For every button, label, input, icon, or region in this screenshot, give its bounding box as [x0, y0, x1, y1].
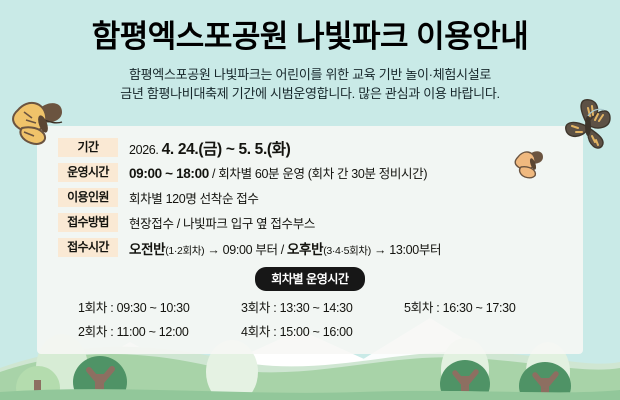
afternoon-group-sessions: (3·4·5회차)	[323, 245, 371, 257]
morning-group-sessions: (1·2회차)	[165, 245, 204, 257]
info-row-list: 기간 2026. 4. 24.(금) ~ 5. 5.(화) 운영시간 09:00…	[58, 135, 568, 260]
application-time-mid: → 09:00 부터 /	[204, 243, 287, 257]
period-prefix: 2026.	[129, 143, 162, 157]
page-title: 함평엑스포공원 나빛파크 이용안내	[0, 0, 620, 56]
info-row-period: 기간 2026. 4. 24.(금) ~ 5. 5.(화)	[58, 135, 568, 160]
info-row-application-time: 접수시간 오전반(1·2회차) → 09:00 부터 / 오후반(3·4·5회차…	[58, 235, 568, 260]
session-item: 5회차 : 16:30 ~ 17:30	[404, 297, 548, 316]
butterfly-icon	[512, 148, 548, 180]
butterfly-icon	[6, 98, 68, 150]
afternoon-group-label: 오후반	[287, 242, 323, 257]
info-card: 기간 2026. 4. 24.(금) ~ 5. 5.(화) 운영시간 09:00…	[37, 126, 583, 354]
butterfly-icon	[558, 96, 616, 156]
row-value-hours: 09:00 ~ 18:00 / 회차별 60분 운영 (회차 간 30분 정비시…	[118, 163, 427, 182]
session-schedule-pill-label: 회차별 운영시간	[255, 267, 364, 291]
row-label-capacity: 이용인원	[58, 188, 118, 207]
session-item: 1회차 : 09:30 ~ 10:30	[78, 297, 241, 316]
poster-subtitle: 함평엑스포공원 나빛파크는 어린이를 위한 교육 기반 놀이·체험시설로 금년 …	[0, 56, 620, 103]
row-value-period: 2026. 4. 24.(금) ~ 5. 5.(화)	[118, 137, 290, 159]
row-value-application-time: 오전반(1·2회차) → 09:00 부터 / 오후반(3·4·5회차) → 1…	[118, 238, 441, 258]
session-item: 4회차 : 15:00 ~ 16:00	[241, 321, 404, 340]
row-label-hours: 운영시간	[58, 163, 118, 182]
session-schedule-header: 회차별 운영시간	[37, 267, 583, 291]
application-time-suffix: → 13:00부터	[371, 243, 441, 257]
hours-note: / 회차별 60분 운영 (회차 간 30분 정비시간)	[209, 167, 427, 181]
info-row-hours: 운영시간 09:00 ~ 18:00 / 회차별 60분 운영 (회차 간 30…	[58, 160, 568, 185]
row-label-application-time: 접수시간	[58, 238, 118, 257]
poster-root: 함평엑스포공원 나빛파크 이용안내 함평엑스포공원 나빛파크는 어린이를 위한 …	[0, 0, 620, 400]
row-label-application-method: 접수방법	[58, 213, 118, 232]
session-item: 2회차 : 11:00 ~ 12:00	[78, 321, 241, 340]
row-value-application-method: 현장접수 / 나빛파크 입구 옆 접수부스	[118, 213, 315, 232]
subtitle-line-2: 금년 함평나비대축제 기간에 시범운영합니다. 많은 관심과 이용 바랍니다.	[0, 84, 620, 103]
row-value-capacity: 회차별 120명 선착순 접수	[118, 188, 259, 207]
session-schedule-grid: 1회차 : 09:30 ~ 10:30 3회차 : 13:30 ~ 14:30 …	[78, 294, 548, 342]
session-item: 3회차 : 13:30 ~ 14:30	[241, 297, 404, 316]
poster-header: 함평엑스포공원 나빛파크 이용안내 함평엑스포공원 나빛파크는 어린이를 위한 …	[0, 0, 620, 103]
morning-group-label: 오전반	[129, 242, 165, 257]
info-row-application-method: 접수방법 현장접수 / 나빛파크 입구 옆 접수부스	[58, 210, 568, 235]
hours-range: 09:00 ~ 18:00	[129, 166, 209, 181]
info-row-capacity: 이용인원 회차별 120명 선착순 접수	[58, 185, 568, 210]
period-dates: 4. 24.(금) ~ 5. 5.(화)	[162, 141, 291, 158]
subtitle-line-1: 함평엑스포공원 나빛파크는 어린이를 위한 교육 기반 놀이·체험시설로	[0, 65, 620, 84]
